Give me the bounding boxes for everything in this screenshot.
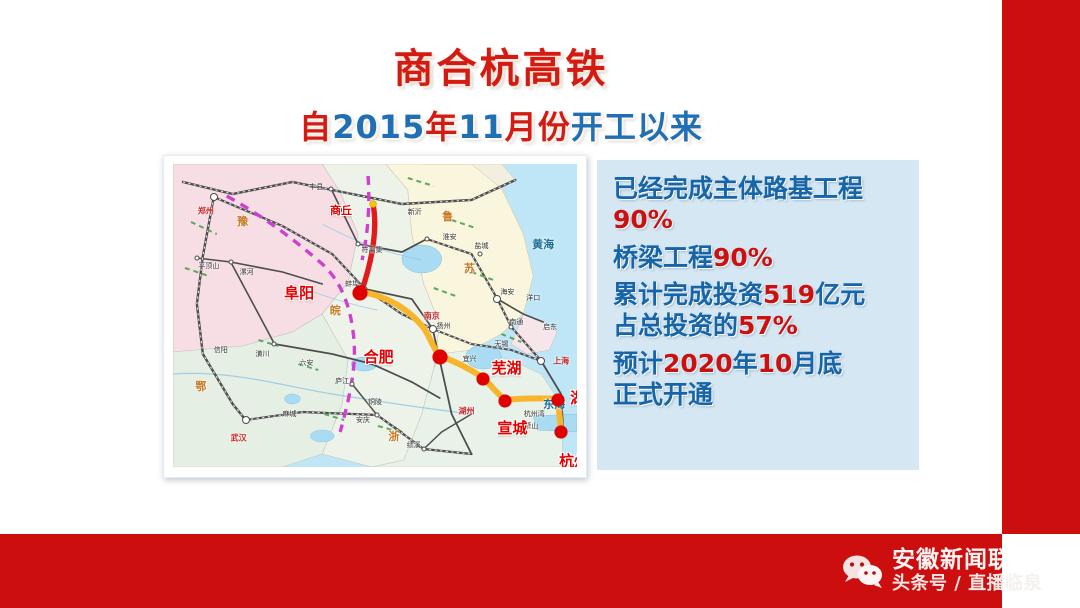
- map-province-glyph: 豫: [237, 213, 248, 229]
- map-canvas: 郑州平顶山漯河信阳潢川六安庐江铜陵安庆麻城武汉绩溪丰县新沂符离集蚌埠淮安盐城扬州…: [173, 164, 577, 467]
- stat-text-run-2-0-2: 亿元: [815, 280, 865, 309]
- stat-text-run-1-0-0: 桥梁工程: [613, 243, 713, 272]
- subtitle-run-5: 开工以来: [571, 108, 703, 146]
- stat-text-run-0-1-0: 90%: [613, 205, 673, 234]
- map-place-label: 新沂: [408, 207, 422, 217]
- map-place-label: 海安: [500, 287, 514, 297]
- stat-text-run-2-0-1: 519: [763, 280, 815, 309]
- stat-line: 预计2020年10月底: [613, 349, 907, 380]
- map-junction-node-icon: [509, 325, 514, 330]
- map-junction-node-icon: [350, 382, 355, 387]
- stat-text-run-2-0-0: 累计完成投资: [613, 280, 763, 309]
- presentation-slide: 商合杭高铁 自2015年11月份开工以来: [0, 0, 1080, 608]
- map-junction-node-icon: [272, 342, 277, 347]
- city-dot-icon: [477, 372, 490, 385]
- wechat-icon: [842, 554, 884, 588]
- map-place-label: 上海: [553, 356, 569, 367]
- stat-line: 桥梁工程90%: [613, 243, 907, 274]
- map-junction-node-icon: [374, 413, 379, 418]
- map-place-label: 无锡: [494, 339, 508, 349]
- map-place-label: 麻城: [282, 409, 296, 419]
- map-junction-node-icon: [493, 295, 501, 303]
- stat-item: 桥梁工程90%: [613, 243, 907, 274]
- subtitle-run-1: 2015: [332, 108, 425, 146]
- map-place-label: 南京: [424, 311, 440, 322]
- map-place-label: 湖州: [459, 406, 475, 417]
- map-junction-node-icon: [424, 237, 429, 242]
- watermark-account-name: 头条号 / 直播临泉: [892, 574, 1042, 594]
- map-place-label: 信阳: [214, 345, 228, 355]
- map-province-glyph: 苏: [464, 260, 475, 276]
- map-junction-node-icon: [242, 416, 250, 424]
- map-place-label: 潢川: [256, 349, 270, 359]
- stat-line: 已经完成主体路基工程: [613, 174, 907, 205]
- subtitle-run-3: 11: [458, 108, 505, 146]
- stat-text-run-3-1-0: 正式开通: [613, 380, 713, 409]
- map-junction-node-icon: [421, 446, 426, 451]
- page-title: 商合杭高铁: [0, 36, 1002, 94]
- stat-text-run-1-0-1: 90%: [713, 243, 773, 272]
- map-place-label: 庐江: [335, 376, 349, 386]
- map-junction-node-icon: [478, 252, 483, 257]
- subtitle-run-0: 自: [299, 108, 332, 146]
- map-place-label: 符离集: [362, 245, 383, 255]
- page-subtitle: 自2015年11月份开工以来: [0, 102, 1002, 148]
- city-label: 商丘: [330, 202, 352, 218]
- city-dot-icon: [555, 426, 568, 439]
- city-label: 阜阳: [284, 282, 314, 303]
- city-label: 芜湖: [491, 357, 521, 378]
- map-junction-node-icon: [537, 357, 545, 365]
- map-place-label: 扬州: [437, 321, 451, 331]
- stat-line: 90%: [613, 205, 907, 236]
- subtitle-run-2: 年: [425, 108, 458, 146]
- stat-item: 累计完成投资519亿元占总投资的57%: [613, 280, 907, 342]
- map-place-label: 宜兴: [463, 354, 477, 364]
- map-place-label: 郑州: [198, 206, 214, 217]
- stat-text-run-2-1-1: 57%: [738, 311, 798, 340]
- map-place-label: 盐城: [474, 241, 488, 251]
- stat-item: 已经完成主体路基工程90%: [613, 174, 907, 236]
- map-junction-node-icon: [194, 256, 199, 261]
- map-place-label: 启东: [543, 322, 557, 332]
- right-red-band: [1002, 0, 1080, 534]
- city-dot-icon: [353, 286, 368, 301]
- map-place-label: 铜陵: [368, 397, 382, 407]
- map-junction-node-icon: [429, 325, 437, 333]
- map-place-label: 安庆: [356, 415, 370, 425]
- channel-watermark: 安徽新闻联播 头条号 / 直播临泉: [838, 534, 1080, 608]
- map-province-glyph: 鄂: [195, 378, 206, 394]
- stat-text-run-2-1-0: 占总投资的: [613, 311, 738, 340]
- map-place-label: 绩溪: [407, 440, 421, 450]
- city-label: 湖州: [570, 387, 577, 408]
- route-node-shangqiu: [370, 201, 377, 208]
- map-province-glyph: 浙: [388, 428, 399, 444]
- map-place-label: 洋口: [526, 293, 540, 303]
- stat-text-run-3-0-0: 预计: [613, 349, 663, 378]
- stat-line: 占总投资的57%: [613, 311, 907, 342]
- map-place-label: 平顶山: [198, 261, 219, 271]
- city-label: 合肥: [364, 346, 394, 367]
- city-label: 宣城: [497, 417, 527, 438]
- map-sea-label: 黄海: [532, 236, 554, 252]
- map-place-label: 六安: [299, 358, 313, 368]
- map-place-label: 丰县: [309, 182, 323, 192]
- project-progress-panel: 已经完成主体路基工程90%桥梁工程90%累计完成投资519亿元占总投资的57%预…: [597, 160, 919, 470]
- map-place-label: 淮安: [443, 232, 457, 242]
- stat-text-run-3-0-4: 月底: [792, 349, 842, 378]
- stat-line: 累计完成投资519亿元: [613, 280, 907, 311]
- map-place-label: 漯河: [240, 267, 254, 277]
- map-province-glyph: 鲁: [442, 208, 453, 224]
- city-dot-icon: [552, 394, 565, 407]
- map-junction-node-icon: [210, 193, 218, 201]
- stat-text-run-0-0-0: 已经完成主体路基工程: [613, 174, 863, 203]
- map-province-glyph: 皖: [330, 302, 341, 318]
- city-dot-icon: [499, 395, 512, 408]
- city-dot-icon: [432, 350, 447, 365]
- city-label: 杭州: [559, 450, 577, 467]
- stat-text-run-3-0-2: 年: [733, 349, 758, 378]
- subtitle-run-4: 月份: [505, 108, 571, 146]
- watermark-channel-name: 安徽新闻联播: [892, 548, 1042, 574]
- stat-item: 预计2020年10月底正式开通: [613, 349, 907, 411]
- map-junction-node-icon: [228, 260, 233, 265]
- stat-text-run-3-0-1: 2020: [663, 349, 733, 378]
- map-junction-node-icon: [329, 187, 334, 192]
- map-junction-node-icon: [356, 241, 361, 246]
- stat-text-run-3-0-3: 10: [758, 349, 793, 378]
- railway-map-panel: 郑州平顶山漯河信阳潢川六安庐江铜陵安庆麻城武汉绩溪丰县新沂符离集蚌埠淮安盐城扬州…: [163, 155, 587, 478]
- stat-line: 正式开通: [613, 380, 907, 411]
- map-place-label: 武汉: [231, 433, 247, 444]
